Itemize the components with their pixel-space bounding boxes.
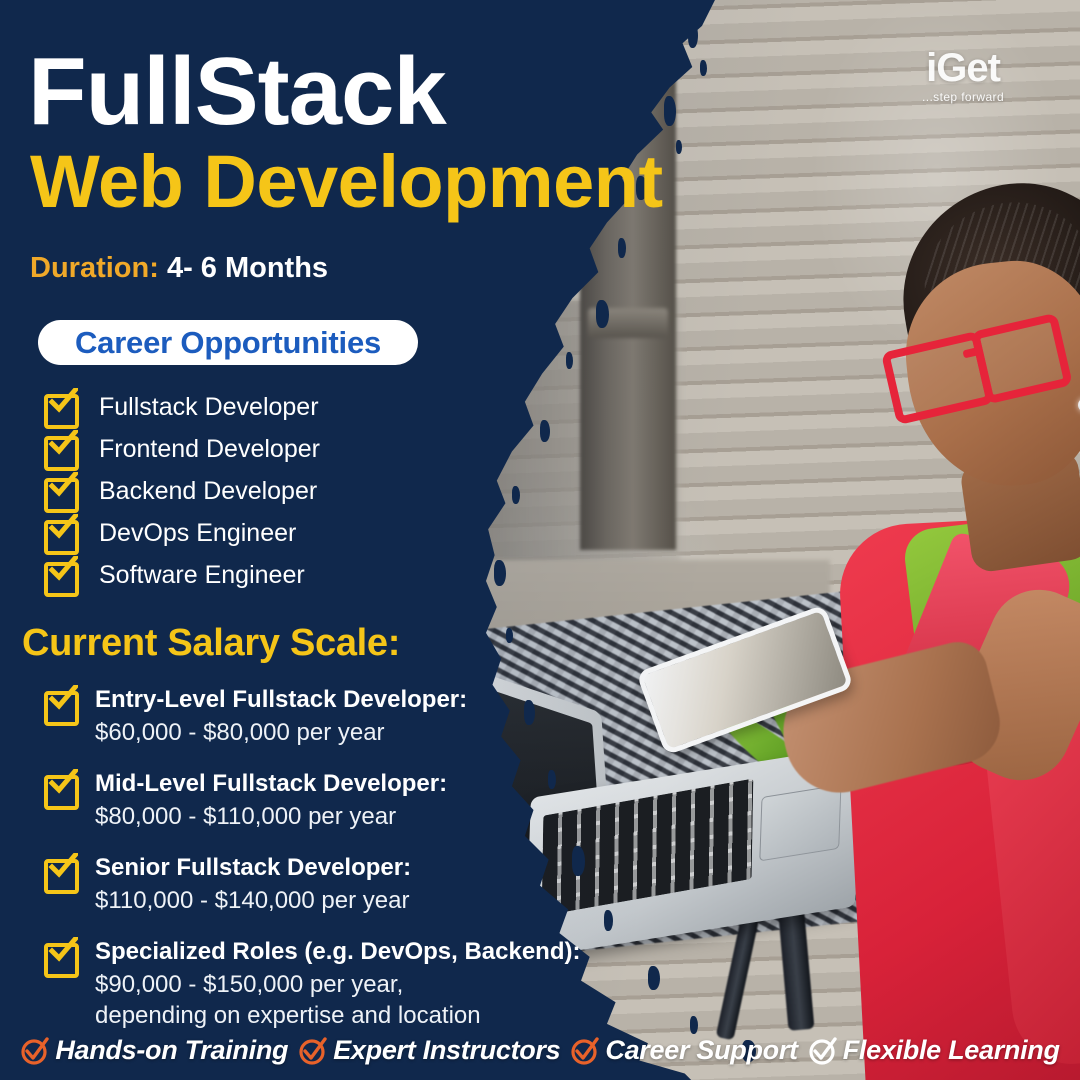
list-item: Specialized Roles (e.g. DevOps, Backend)…	[44, 938, 524, 1031]
page-title: FullStack	[28, 44, 446, 140]
checkbox-check-icon	[44, 688, 77, 721]
salary-role: Senior Fullstack Developer:	[95, 854, 411, 883]
list-item-label: Fullstack Developer	[99, 393, 319, 422]
duration-value: 4- 6 Months	[167, 252, 328, 284]
list-item-label: Software Engineer	[99, 561, 305, 590]
checkbox-check-icon	[44, 940, 77, 973]
list-item: Mid-Level Fullstack Developer: $80,000 -…	[44, 770, 524, 832]
checkbox-check-icon	[44, 391, 77, 424]
list-item: Senior Fullstack Developer: $110,000 - $…	[44, 854, 524, 916]
salary-list: Entry-Level Fullstack Developer: $60,000…	[44, 686, 524, 1053]
duration-label: Duration:	[30, 252, 159, 284]
feature-label: Hands-on Training	[55, 1035, 288, 1066]
checkbox-check-icon	[44, 475, 77, 508]
page-subtitle: Web Development	[30, 145, 663, 219]
logo-tagline: ...step forward	[888, 90, 1038, 104]
check-circle-icon	[570, 1036, 600, 1066]
career-opportunities-badge: Career Opportunities	[38, 320, 418, 365]
poster-canvas: iGet ...step forward FullStack Web Devel…	[0, 0, 1080, 1080]
career-list: Fullstack Developer Frontend Developer B…	[44, 386, 320, 596]
salary-role: Entry-Level Fullstack Developer:	[95, 686, 467, 715]
checkbox-check-icon	[44, 433, 77, 466]
duration-line: Duration: 4- 6 Months	[30, 252, 328, 285]
check-circle-icon	[298, 1036, 328, 1066]
feature-label: Expert Instructors	[333, 1035, 560, 1066]
list-item: DevOps Engineer	[44, 512, 320, 554]
feature-label: Career Support	[605, 1035, 797, 1066]
check-circle-icon	[808, 1036, 838, 1066]
feature-label: Flexible Learning	[843, 1035, 1060, 1066]
check-circle-icon	[20, 1036, 50, 1066]
checkbox-check-icon	[44, 772, 77, 805]
list-item-label: DevOps Engineer	[99, 519, 296, 548]
salary-amount: $60,000 - $80,000 per year	[95, 717, 467, 748]
list-item: Fullstack Developer	[44, 386, 320, 428]
checkbox-check-icon	[44, 856, 77, 889]
list-item: Frontend Developer	[44, 428, 320, 470]
feature-item: Flexible Learning	[808, 1035, 1060, 1066]
salary-role: Specialized Roles (e.g. DevOps, Backend)…	[95, 938, 580, 967]
salary-amount: $110,000 - $140,000 per year	[95, 885, 411, 916]
list-item: Software Engineer	[44, 554, 320, 596]
list-item: Entry-Level Fullstack Developer: $60,000…	[44, 686, 524, 748]
salary-heading: Current Salary Scale:	[22, 622, 400, 665]
feature-item: Career Support	[570, 1035, 797, 1066]
brand-logo: iGet ...step forward	[888, 48, 1038, 104]
feature-item: Hands-on Training	[20, 1035, 288, 1066]
logo-wordmark: iGet	[888, 48, 1038, 88]
list-item-label: Frontend Developer	[99, 435, 320, 464]
feature-item: Expert Instructors	[298, 1035, 560, 1066]
list-item-label: Backend Developer	[99, 477, 317, 506]
career-opportunities-label: Career Opportunities	[75, 325, 381, 361]
checkbox-check-icon	[44, 517, 77, 550]
salary-amount: $80,000 - $110,000 per year	[95, 801, 447, 832]
feature-bar: Hands-on Training Expert Instructors Car…	[0, 1035, 1080, 1066]
checkbox-check-icon	[44, 559, 77, 592]
salary-role: Mid-Level Fullstack Developer:	[95, 770, 447, 799]
list-item: Backend Developer	[44, 470, 320, 512]
salary-amount: $90,000 - $150,000 per year, depending o…	[95, 969, 515, 1031]
